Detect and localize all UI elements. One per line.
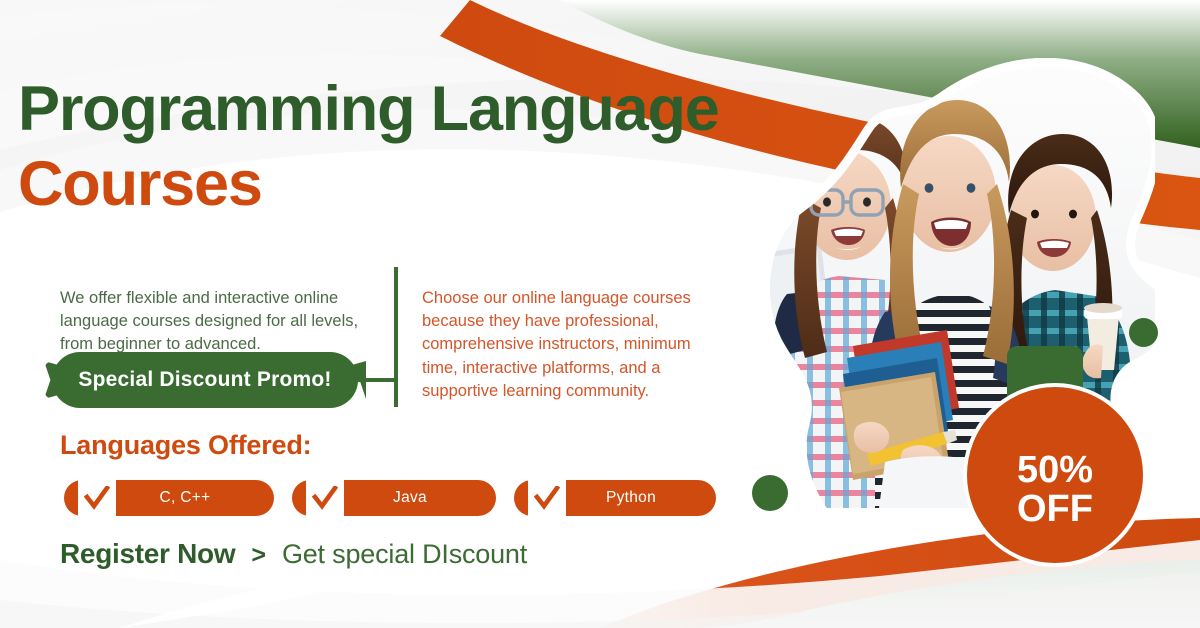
get-special-discount-text[interactable]: Get special DIscount bbox=[282, 539, 527, 570]
language-label: Java bbox=[350, 489, 470, 507]
promo-label: Special Discount Promo! bbox=[78, 368, 331, 392]
check-icon bbox=[528, 476, 566, 520]
vertical-divider bbox=[394, 267, 398, 407]
discount-badge[interactable]: 50% OFF bbox=[963, 383, 1147, 567]
intro-paragraph-left: We offer flexible and interactive online… bbox=[60, 287, 380, 357]
check-icon bbox=[306, 476, 344, 520]
languages-offered-heading: Languages Offered: bbox=[60, 430, 311, 461]
cta-row[interactable]: Register Now > Get special DIscount bbox=[60, 538, 527, 570]
language-pill-c-cpp[interactable]: C, C++ bbox=[64, 480, 274, 516]
headline-line-2: Courses bbox=[18, 153, 778, 216]
register-now-link[interactable]: Register Now bbox=[60, 538, 235, 570]
promo-pill[interactable]: Special Discount Promo! bbox=[52, 352, 358, 408]
chevron-right-icon: > bbox=[251, 541, 266, 570]
special-discount-promo-badge[interactable]: Special Discount Promo! bbox=[44, 352, 366, 408]
intro-paragraph-right: Choose our online language courses becau… bbox=[422, 287, 722, 404]
headline-line-1: Programming Language bbox=[18, 78, 778, 141]
green-dot-left bbox=[752, 475, 788, 511]
page-title: Programming Language Courses bbox=[18, 78, 778, 216]
promo-banner: Programming Language Courses We offer fl… bbox=[0, 0, 1200, 628]
languages-list: C, C++ Java Python bbox=[64, 480, 716, 516]
language-pill-java[interactable]: Java bbox=[292, 480, 496, 516]
discount-circle[interactable]: 50% OFF bbox=[963, 383, 1147, 567]
green-dot-right bbox=[1129, 318, 1158, 347]
language-label: C, C++ bbox=[122, 489, 248, 507]
discount-percent: 50% bbox=[1017, 451, 1093, 490]
language-label: Python bbox=[572, 489, 690, 507]
check-icon bbox=[78, 476, 116, 520]
discount-off-label: OFF bbox=[1017, 490, 1093, 529]
language-pill-python[interactable]: Python bbox=[514, 480, 716, 516]
